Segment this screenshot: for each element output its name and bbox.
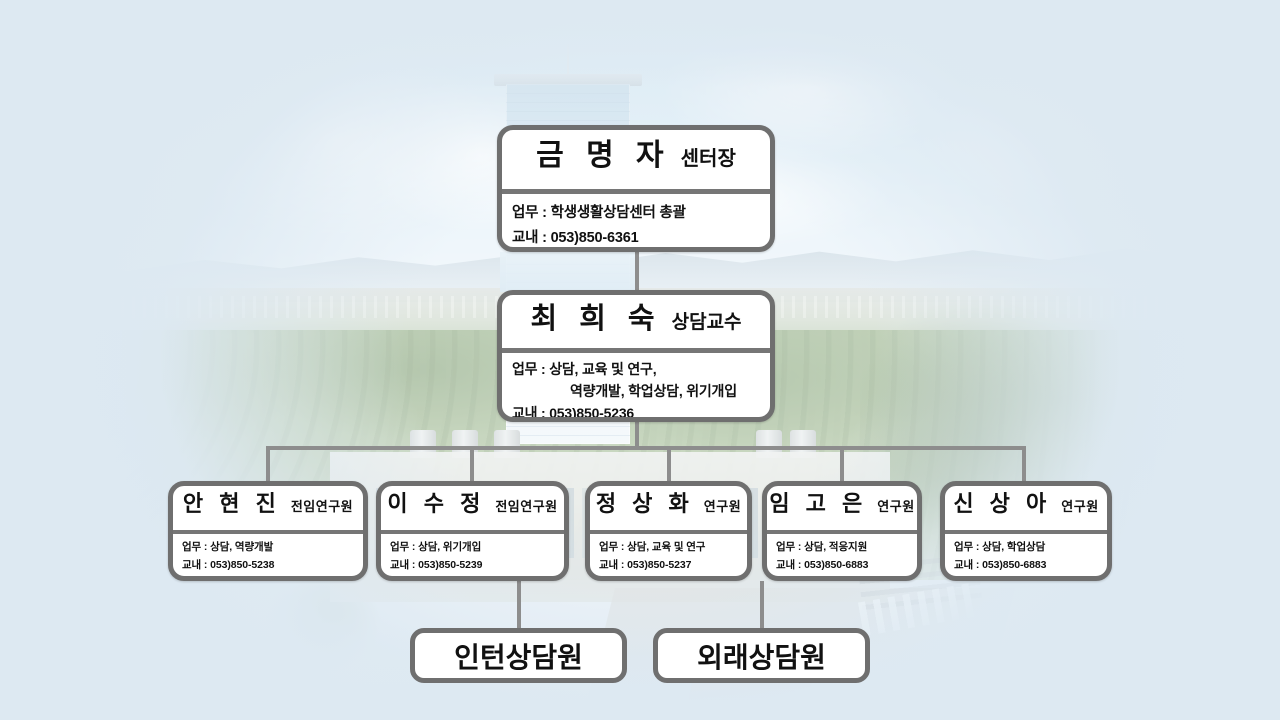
org-node-outpatient-counselor[interactable]: 외래상담원 — [653, 628, 870, 683]
org-node-researcher-1-duty: 업무 : 상담, 역량개발 — [182, 538, 353, 556]
org-node-researcher-3-duty: 업무 : 상담, 교육 및 연구 — [599, 538, 737, 556]
tower-signage-band — [500, 252, 636, 292]
connector-drop-r2 — [470, 446, 474, 481]
org-node-researcher-2-phone: 교내 : 053)850-5239 — [390, 556, 554, 574]
org-node-researcher-2-title: 전임연구원 — [495, 496, 557, 515]
org-node-researcher-5-name: 신 상 아 — [953, 486, 1051, 518]
org-node-professor-duty: 업무 : 상담, 교육 및 연구, — [512, 358, 760, 380]
org-node-professor-body: 업무 : 상담, 교육 및 연구, 역량개발, 학업상담, 위기개입 교내 : … — [502, 353, 770, 422]
org-node-researcher-4[interactable]: 임 고 은 연구원 업무 : 상담, 적응지원 교내 : 053)850-688… — [762, 481, 922, 581]
org-node-professor-title: 상담교수 — [672, 307, 742, 334]
org-node-researcher-5-phone: 교내 : 053)850-6883 — [954, 556, 1097, 574]
org-node-director-duty: 업무 : 학생생활상담센터 총괄 — [512, 201, 760, 226]
org-node-director[interactable]: 금 명 자 센터장 업무 : 학생생활상담센터 총괄 교내 : 053)850-… — [497, 125, 775, 252]
org-node-counseling-professor[interactable]: 최 희 숙 상담교수 업무 : 상담, 교육 및 연구, 역량개발, 학업상담,… — [497, 290, 775, 422]
org-node-director-phone: 교내 : 053)850-6361 — [512, 226, 760, 251]
connector-intern-stem — [517, 581, 521, 628]
org-node-researcher-2-header: 이 수 정 전임연구원 — [381, 486, 564, 530]
org-node-director-name: 금 명 자 — [536, 130, 670, 174]
org-node-researcher-1-header: 안 현 진 전임연구원 — [173, 486, 363, 530]
org-node-researcher-5-duty: 업무 : 상담, 학업상담 — [954, 538, 1097, 556]
org-node-researcher-5-body: 업무 : 상담, 학업상담 교내 : 053)850-6883 — [945, 534, 1107, 574]
org-node-director-body: 업무 : 학생생활상담센터 총괄 교내 : 053)850-6361 — [502, 194, 770, 251]
org-node-researcher-3-body: 업무 : 상담, 교육 및 연구 교내 : 053)850-5237 — [590, 534, 747, 574]
connector-drop-r3 — [667, 446, 671, 481]
tower-antenna — [567, 44, 569, 78]
org-node-intern-counselor-label: 인턴상담원 — [454, 636, 583, 676]
org-node-researcher-3[interactable]: 정 상 화 연구원 업무 : 상담, 교육 및 연구 교내 : 053)850-… — [585, 481, 752, 581]
org-node-researcher-1-name: 안 현 진 — [183, 486, 281, 518]
org-node-researcher-2-name: 이 수 정 — [387, 486, 485, 518]
org-node-researcher-3-name: 정 상 화 — [596, 486, 694, 518]
org-node-researcher-2-duty: 업무 : 상담, 위기개입 — [390, 538, 554, 556]
connector-outpatient-stem — [760, 581, 764, 628]
org-node-researcher-3-title: 연구원 — [704, 496, 741, 515]
connector-drop-r4 — [840, 446, 844, 481]
org-node-professor-duty-line2: 역량개발, 학업상담, 위기개입 — [512, 380, 760, 402]
org-node-researcher-4-duty: 업무 : 상담, 적응지원 — [776, 538, 907, 556]
org-node-researcher-1-phone: 교내 : 053)850-5238 — [182, 556, 353, 574]
org-node-researcher-3-phone: 교내 : 053)850-5237 — [599, 556, 737, 574]
org-node-researcher-4-title: 연구원 — [877, 496, 914, 515]
org-node-researcher-2-body: 업무 : 상담, 위기개입 교내 : 053)850-5239 — [381, 534, 564, 574]
org-node-researcher-1[interactable]: 안 현 진 전임연구원 업무 : 상담, 역량개발 교내 : 053)850-5… — [168, 481, 368, 581]
org-node-researcher-3-header: 정 상 화 연구원 — [590, 486, 747, 530]
org-node-researcher-4-body: 업무 : 상담, 적응지원 교내 : 053)850-6883 — [767, 534, 917, 574]
org-node-researcher-2[interactable]: 이 수 정 전임연구원 업무 : 상담, 위기개입 교내 : 053)850-5… — [376, 481, 569, 581]
org-node-researcher-5[interactable]: 신 상 아 연구원 업무 : 상담, 학업상담 교내 : 053)850-688… — [940, 481, 1112, 581]
connector-director-to-professor — [635, 252, 639, 290]
org-node-researcher-5-title: 연구원 — [1061, 496, 1098, 515]
org-node-researcher-5-header: 신 상 아 연구원 — [945, 486, 1107, 530]
connector-researcher-bus — [266, 446, 1026, 450]
org-node-researcher-4-header: 임 고 은 연구원 — [767, 486, 917, 530]
org-node-professor-phone: 교내 : 053)850-5236 — [512, 402, 760, 422]
connector-drop-r5 — [1022, 446, 1026, 481]
org-node-professor-header: 최 희 숙 상담교수 — [502, 295, 770, 348]
connector-professor-stem — [635, 422, 639, 446]
cloud — [30, 70, 290, 240]
org-node-professor-name: 최 희 숙 — [530, 295, 661, 337]
org-node-director-header: 금 명 자 센터장 — [502, 130, 770, 189]
org-node-researcher-4-name: 임 고 은 — [769, 486, 867, 518]
org-node-researcher-1-title: 전임연구원 — [291, 496, 353, 515]
org-node-researcher-1-body: 업무 : 상담, 역량개발 교내 : 053)850-5238 — [173, 534, 363, 574]
org-node-researcher-4-phone: 교내 : 053)850-6883 — [776, 556, 907, 574]
org-node-director-title: 센터장 — [681, 142, 736, 171]
org-node-intern-counselor[interactable]: 인턴상담원 — [410, 628, 627, 683]
org-node-outpatient-counselor-label: 외래상담원 — [697, 636, 826, 676]
connector-drop-r1 — [266, 446, 270, 481]
org-chart-page: 금 명 자 센터장 업무 : 학생생활상담센터 총괄 교내 : 053)850-… — [0, 0, 1280, 720]
